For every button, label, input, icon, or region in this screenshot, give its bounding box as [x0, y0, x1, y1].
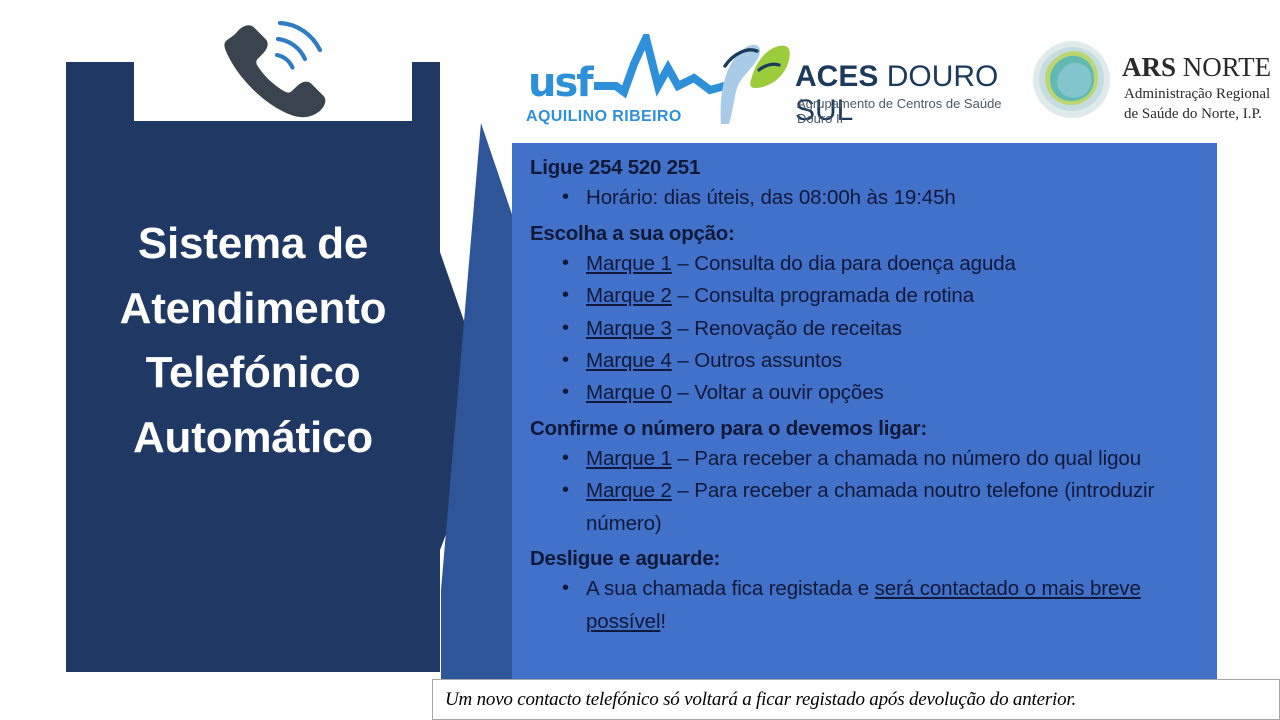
list-item: A sua chamada fica registada e será cont…: [586, 573, 1209, 638]
left-title-panel: Sistema de Atendimento Telefónico Automá…: [0, 0, 520, 700]
closing-text: A sua chamada fica registada e: [586, 577, 875, 600]
option-key: Marque 2: [586, 284, 672, 307]
option-key: Marque 2: [586, 479, 672, 502]
section-list-escolha: Marque 1 – Consulta do dia para doença a…: [530, 248, 1209, 410]
list-item: Marque 4 – Outros assuntos: [586, 345, 1209, 377]
option-desc: – Voltar a ouvir opções: [672, 381, 884, 404]
usf-subtitle: AQUILINO RIBEIRO: [526, 108, 682, 126]
list-item: Marque 1 – Para receber a chamada no núm…: [586, 443, 1209, 475]
aces-bold: ACES: [795, 60, 878, 93]
logo-strip: usf AQUILINO RIBEIRO ACES DOURO SUL Agru…: [500, 14, 1280, 134]
footer-note-text: Um novo contacto telefónico só voltará a…: [433, 689, 1076, 711]
section-list-desligue: A sua chamada fica registada e será cont…: [530, 573, 1209, 638]
option-key: Marque 0: [586, 381, 672, 404]
page-title-line-1: Sistema de: [66, 212, 440, 277]
page-title-line-4: Automático: [66, 406, 440, 471]
section-heading-escolha: Escolha a sua opção:: [530, 221, 1209, 247]
option-desc: – Consulta programada de rotina: [672, 284, 974, 307]
instructions-panel: Ligue 254 520 251 Horário: dias úteis, d…: [512, 143, 1217, 679]
option-key: Marque 3: [586, 317, 672, 340]
list-item: Marque 1 – Consulta do dia para doença a…: [586, 248, 1209, 280]
ars-subtitle: Administração Regional de Saúde do Norte…: [1124, 84, 1270, 125]
section-heading-ligue: Ligue 254 520 251: [530, 155, 1209, 181]
ars-subtitle-line-1: Administração Regional: [1124, 84, 1270, 104]
list-item-text: Horário: dias úteis, das 08:00h às 19:45…: [586, 186, 956, 209]
list-item: Marque 2 – Para receber a chamada noutro…: [586, 475, 1209, 540]
option-desc: – Renovação de receitas: [672, 317, 902, 340]
section-heading-confirme: Confirme o número para o devemos ligar:: [530, 416, 1209, 442]
option-key: Marque 4: [586, 349, 672, 372]
section-list-confirme: Marque 1 – Para receber a chamada no núm…: [530, 443, 1209, 540]
usf-wordmark: usf: [528, 60, 592, 106]
list-item: Marque 3 – Renovação de receitas: [586, 313, 1209, 345]
footer-note-box: Um novo contacto telefónico só voltará a…: [432, 679, 1280, 720]
ars-light: NORTE: [1176, 52, 1271, 82]
list-item: Marque 0 – Voltar a ouvir opções: [586, 377, 1209, 409]
option-desc: – Outros assuntos: [672, 349, 842, 372]
list-item: Horário: dias úteis, das 08:00h às 19:45…: [586, 182, 1209, 214]
ars-wordmark: ARS NORTE: [1122, 52, 1271, 83]
ars-norte-logo: ARS NORTE Administração Regional de Saúd…: [1030, 28, 1280, 128]
aces-subtitle: Agrupamento de Centros de Saúde Douro II: [797, 96, 1015, 126]
section-list-ligue: Horário: dias úteis, das 08:00h às 19:45…: [530, 182, 1209, 214]
closing-text-tail: !: [660, 610, 666, 633]
usf-aquilino-ribeiro-logo: usf AQUILINO RIBEIRO: [520, 34, 720, 129]
page-title-line-3: Telefónico: [66, 341, 440, 406]
ars-subtitle-line-2: de Saúde do Norte, I.P.: [1124, 104, 1270, 124]
page-title: Sistema de Atendimento Telefónico Automá…: [66, 212, 440, 471]
phone-ringing-icon: [206, 18, 338, 128]
option-key: Marque 1: [586, 252, 672, 275]
section-heading-desligue: Desligue e aguarde:: [530, 546, 1209, 572]
option-desc: – Consulta do dia para doença aguda: [672, 252, 1016, 275]
ars-bold: ARS: [1122, 52, 1176, 82]
option-key: Marque 1: [586, 447, 672, 470]
option-desc: – Para receber a chamada noutro telefone…: [586, 479, 1154, 534]
option-desc: – Para receber a chamada no número do qu…: [672, 447, 1141, 470]
list-item: Marque 2 – Consulta programada de rotina: [586, 280, 1209, 312]
page-title-line-2: Atendimento: [66, 277, 440, 342]
aces-douro-sul-logo: ACES DOURO SUL Agrupamento de Centros de…: [715, 34, 1015, 130]
